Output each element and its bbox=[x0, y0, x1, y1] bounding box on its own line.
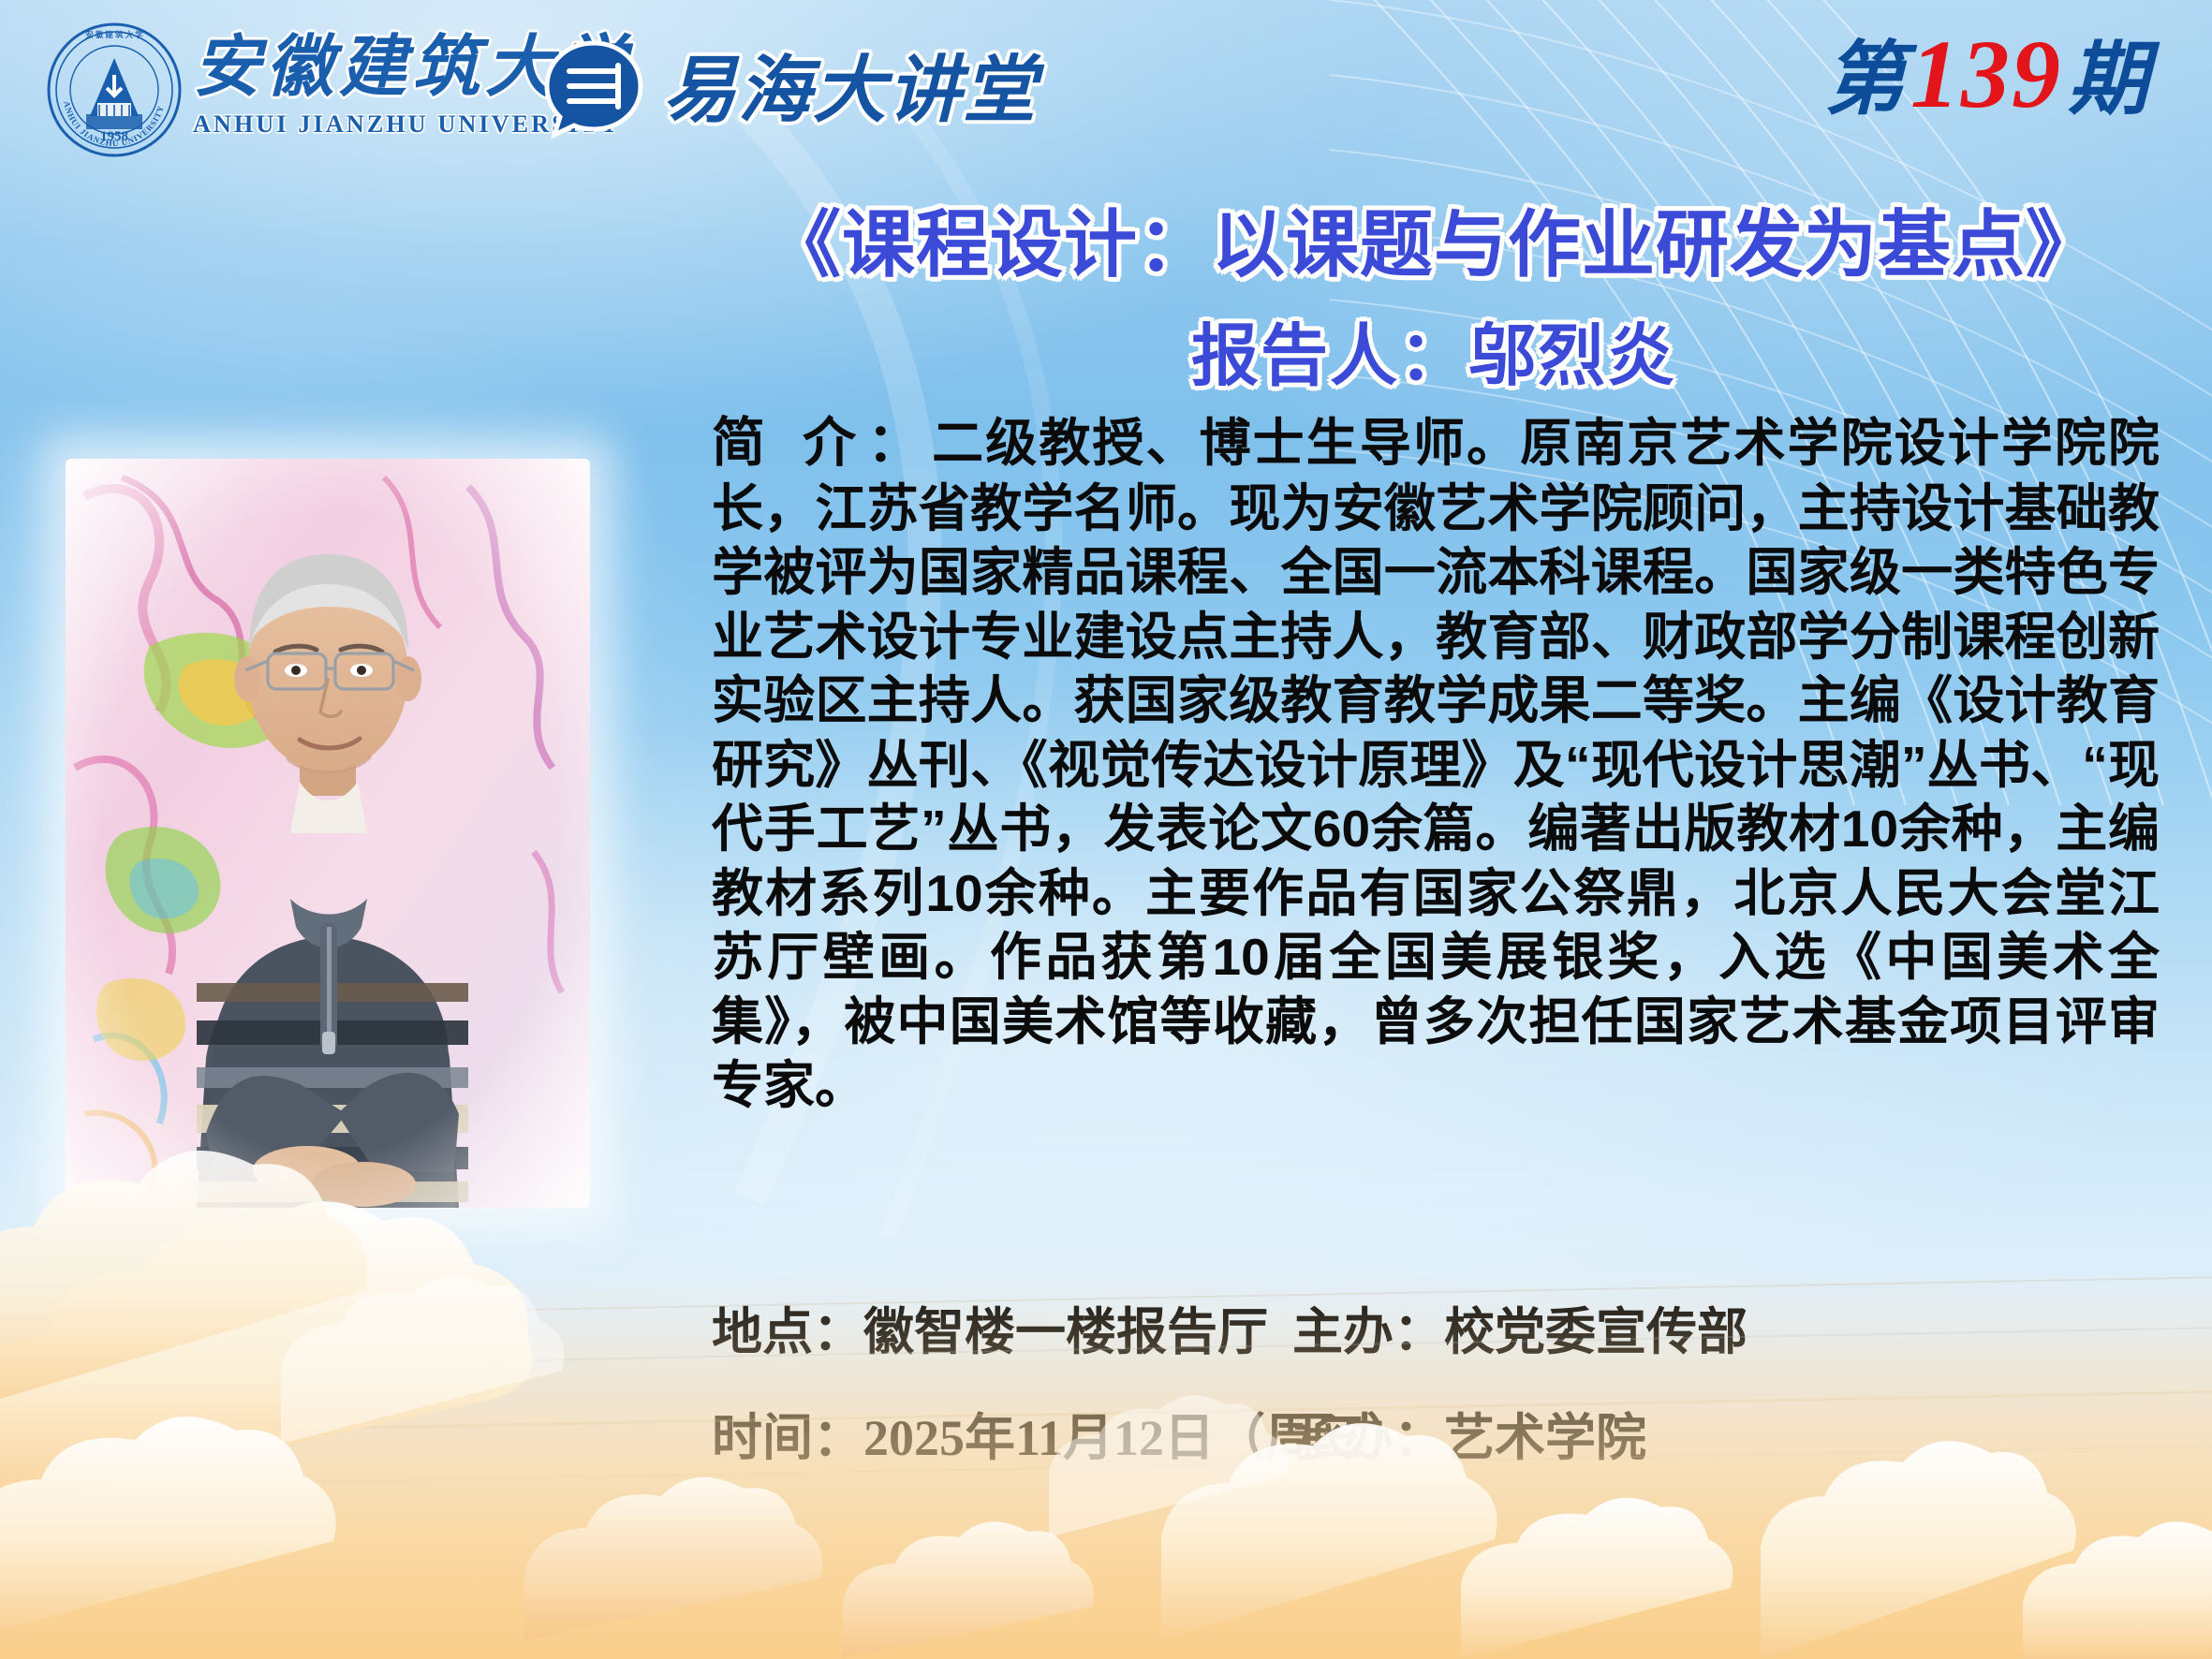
forum-name-label: 易海大讲堂 bbox=[663, 53, 1038, 126]
bio-label: 简 介： bbox=[712, 413, 932, 473]
speaker-portrait bbox=[66, 459, 590, 1208]
portrait-canvas bbox=[66, 459, 590, 1208]
issue-suffix: 期 bbox=[2068, 39, 2148, 120]
issue-badge: 第 139 期 bbox=[1824, 26, 2148, 124]
university-seal-icon: 1958 安 徽 建 筑 大 学 ANHUI JIANZHU UNIVERSIT… bbox=[45, 21, 184, 159]
issue-prefix: 第 bbox=[1824, 39, 1905, 120]
svg-text:安 徽 建 筑 大 学: 安 徽 建 筑 大 学 bbox=[85, 30, 143, 39]
speaker-bio: 简 介：二级教授、博士生导师。原南京艺术学院设计学院院长，江苏省教学名师。现为安… bbox=[712, 410, 2160, 1118]
speech-bubble-book-icon bbox=[541, 37, 646, 142]
cloud-decoration bbox=[0, 1135, 2212, 1659]
forum-logo: 易海大讲堂 bbox=[541, 37, 1038, 142]
bio-text: 二级教授、博士生导师。原南京艺术学院设计学院院长，江苏省教学名师。现为安徽艺术学… bbox=[712, 414, 2160, 1114]
talk-title: 《课程设计：以课题与作业研发为基点》 bbox=[693, 204, 2175, 286]
title-block: 《课程设计：以课题与作业研发为基点》 报告人：邬烈炎 bbox=[693, 204, 2175, 399]
poster-header: 1958 安 徽 建 筑 大 学 ANHUI JIANZHU UNIVERSIT… bbox=[0, 0, 2212, 169]
speaker-line: 报告人：邬烈炎 bbox=[693, 301, 2175, 399]
lecture-poster: 1958 安 徽 建 筑 大 学 ANHUI JIANZHU UNIVERSIT… bbox=[0, 0, 2212, 1659]
issue-number: 139 bbox=[1910, 26, 2062, 124]
portrait-artwork bbox=[66, 459, 590, 1208]
